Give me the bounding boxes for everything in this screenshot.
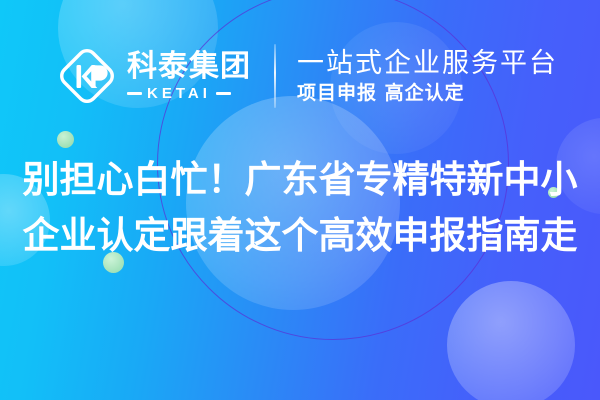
promo-banner: 科泰集团 KETAI 一站式企业服务平台 项目申报 高企认定 别担心白忙！广东省…: [0, 0, 600, 400]
ketai-diamond-kp-monogram-icon: [56, 45, 118, 107]
brand-name-cn: 科泰集团: [127, 51, 251, 82]
header-divider: [274, 44, 276, 108]
headline: 别担心白忙！广东省专精特新中小 企业认定跟着这个高效申报指南走: [0, 152, 600, 264]
decorative-dot-green-upper-left: [57, 131, 74, 148]
brand-name-en: KETAI: [147, 86, 211, 101]
brand-name-en-row: KETAI: [127, 86, 251, 101]
tagline-main: 一站式企业服务平台: [297, 48, 558, 79]
banner-header: 科泰集团 KETAI 一站式企业服务平台 项目申报 高企认定: [56, 36, 558, 116]
header-tagline: 一站式企业服务平台 项目申报 高企认定: [297, 48, 558, 105]
headline-line-1: 别担心白忙！广东省专精特新中小: [0, 152, 600, 208]
headline-line-2: 企业认定跟着这个高效申报指南走: [0, 208, 600, 264]
decorative-circle-bottom-right: [447, 281, 575, 400]
brand-logo: 科泰集团 KETAI: [56, 42, 251, 110]
rule-right-icon: [216, 92, 231, 95]
tagline-sub: 项目申报 高企认定: [297, 83, 558, 105]
brand-logo-wordmark: 科泰集团 KETAI: [127, 51, 251, 100]
rule-left-icon: [127, 92, 142, 95]
